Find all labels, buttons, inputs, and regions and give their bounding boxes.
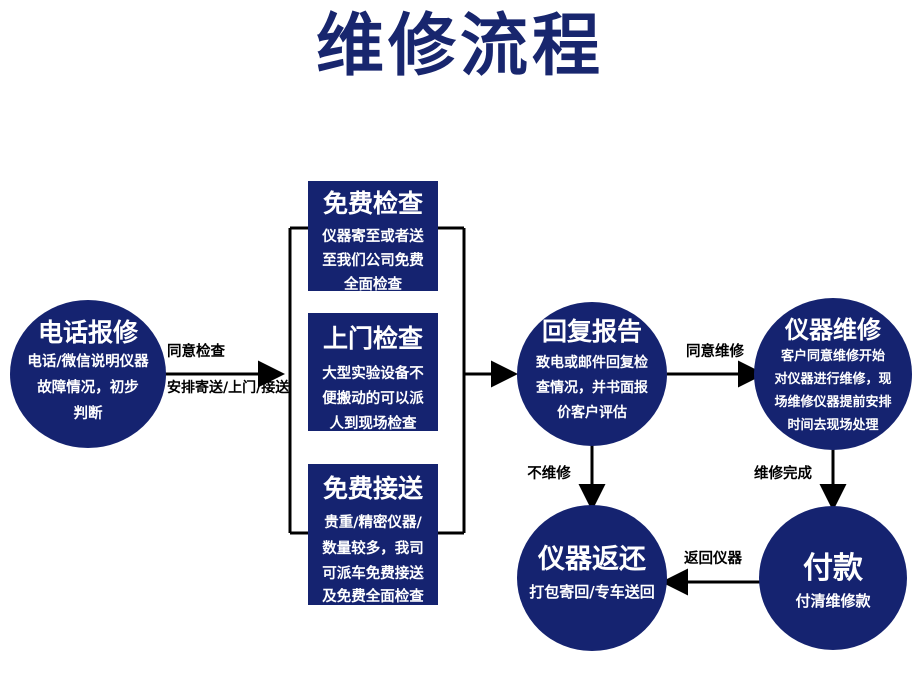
node-free-pickup[interactable]: 免费接送 贵重/精密仪器/ 数量较多，我司 可派车免费接送 及免费全面检查	[308, 464, 438, 605]
flowchart-svg: 电话报修 电话/微信说明仪器 故障情况，初步 判断 免费检查 仪器寄至或者送 至…	[0, 0, 920, 676]
node-phone-report-line-3: 判断	[74, 404, 103, 422]
node-onsite-check-line-1: 大型实验设备不	[322, 364, 424, 382]
connector-label-no-repair: 不维修	[527, 464, 571, 482]
node-reply-report-line-1: 致电或邮件回复检	[536, 354, 648, 371]
flowchart-canvas: 维修流程	[0, 0, 920, 676]
connector-label-agree-repair: 同意维修	[686, 342, 744, 360]
node-reply-report-line-2: 查情况，并书面报	[536, 379, 648, 396]
node-reply-report-title: 回复报告	[542, 317, 642, 346]
node-onsite-check-line-3: 人到现场检查	[330, 414, 417, 432]
node-free-check-line-2: 至我们公司免费	[322, 251, 424, 269]
connector-label-agree-check-bottom: 安排寄送/上门/接送	[167, 379, 290, 396]
node-onsite-check-line-2: 便搬动的可以派	[322, 389, 424, 407]
node-phone-report-line-2: 故障情况，初步	[37, 378, 139, 396]
node-free-check-title: 免费检查	[323, 189, 423, 218]
node-instrument-repair-line-4: 时间去现场处理	[787, 417, 878, 433]
node-instrument-return-shape	[517, 505, 667, 651]
node-instrument-return-line-1: 打包寄回/专车送回	[529, 583, 654, 601]
node-payment-line-1: 付清维修款	[795, 592, 871, 610]
node-onsite-check-title: 上门检查	[323, 324, 423, 353]
node-instrument-repair-title: 仪器维修	[784, 316, 882, 344]
node-free-pickup-line-3: 可派车免费接送	[322, 564, 424, 582]
node-phone-report-title: 电话报修	[38, 318, 139, 347]
node-payment[interactable]: 付款 付清维修款	[759, 506, 907, 650]
node-phone-report[interactable]: 电话报修 电话/微信说明仪器 故障情况，初步 判断	[10, 300, 166, 448]
node-free-check-line-3: 全面检查	[343, 275, 402, 293]
connector-label-return-instrument: 返回仪器	[684, 549, 742, 567]
connector-label-repair-done: 维修完成	[754, 464, 812, 482]
node-payment-title: 付款	[803, 551, 864, 586]
node-instrument-repair-line-1: 客户同意维修开始	[781, 348, 885, 364]
node-instrument-repair[interactable]: 仪器维修 客户同意维修开始 对仪器进行维修，现 场维修仪器提前安排 时间去现场处…	[754, 298, 912, 450]
connector-branch-bracket-right	[436, 228, 515, 533]
node-free-pickup-title: 免费接送	[323, 474, 423, 503]
node-reply-report-line-3: 价客户评估	[557, 404, 627, 421]
node-free-check-line-1: 仪器寄至或者送	[321, 227, 424, 245]
node-instrument-repair-line-2: 对仪器进行维修，现	[774, 371, 891, 387]
node-instrument-return[interactable]: 仪器返还 打包寄回/专车送回	[517, 505, 667, 651]
node-free-pickup-line-1: 贵重/精密仪器/	[324, 513, 422, 531]
node-free-pickup-line-4: 及免费全面检查	[322, 587, 424, 605]
node-phone-report-line-1: 电话/微信说明仪器	[27, 352, 149, 370]
node-free-pickup-line-2: 数量较多，我司	[322, 539, 424, 557]
connector-label-agree-check-top: 同意检查	[167, 342, 225, 360]
node-instrument-repair-line-3: 场维修仪器提前安排	[774, 394, 891, 410]
node-onsite-check[interactable]: 上门检查 大型实验设备不 便搬动的可以派 人到现场检查	[308, 313, 438, 432]
node-free-check[interactable]: 免费检查 仪器寄至或者送 至我们公司免费 全面检查	[308, 181, 438, 293]
node-instrument-return-title: 仪器返还	[537, 544, 647, 575]
node-reply-report[interactable]: 回复报告 致电或邮件回复检 查情况，并书面报 价客户评估	[517, 302, 667, 446]
